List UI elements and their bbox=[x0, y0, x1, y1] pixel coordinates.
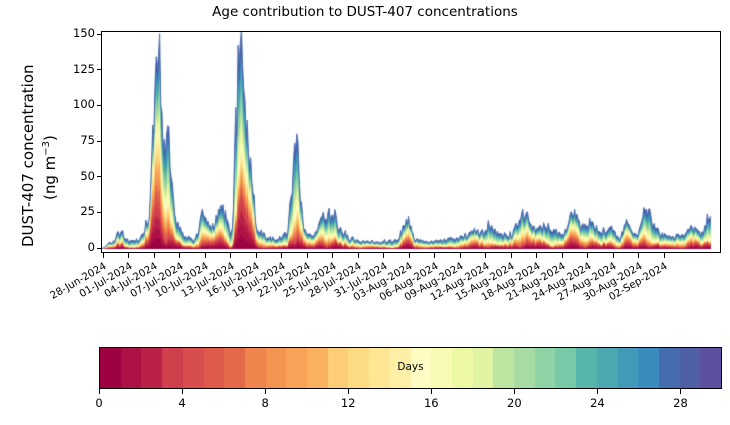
plot-area bbox=[101, 31, 721, 253]
x-tick-mark bbox=[383, 253, 384, 258]
y-tick-label: 50 bbox=[55, 169, 95, 183]
y-tick-label: 75 bbox=[55, 133, 95, 147]
colorbar-tick-label: 28 bbox=[660, 396, 700, 410]
x-tick-mark bbox=[281, 253, 282, 258]
x-tick-mark bbox=[256, 253, 257, 258]
y-tick-mark bbox=[97, 248, 102, 249]
x-tick-mark bbox=[103, 253, 104, 258]
y-axis-label-line1: DUST-407 concentration bbox=[19, 64, 37, 247]
y-tick-label: 150 bbox=[55, 26, 95, 40]
colorbar-tick-mark bbox=[680, 389, 681, 394]
colorbar-tick-label: 24 bbox=[577, 396, 617, 410]
y-tick-mark bbox=[97, 141, 102, 142]
y-tick-label: 125 bbox=[55, 62, 95, 76]
y-tick-mark bbox=[97, 212, 102, 213]
x-tick-mark bbox=[409, 253, 410, 258]
colorbar-tick-label: 12 bbox=[328, 396, 368, 410]
x-tick-mark bbox=[179, 253, 180, 258]
y-tick-label: 0 bbox=[55, 240, 95, 254]
x-tick-mark bbox=[664, 253, 665, 258]
colorbar-tick-label: 4 bbox=[162, 396, 202, 410]
x-tick-mark bbox=[536, 253, 537, 258]
colorbar-tick-label: 20 bbox=[494, 396, 534, 410]
y-tick-label: 25 bbox=[55, 204, 95, 218]
colorbar-tick-mark bbox=[431, 389, 432, 394]
colorbar-tick-mark bbox=[348, 389, 349, 394]
colorbar-tick-mark bbox=[514, 389, 515, 394]
x-tick-mark bbox=[613, 253, 614, 258]
x-tick-mark bbox=[562, 253, 563, 258]
x-tick-mark bbox=[230, 253, 231, 258]
colorbar-label: Days bbox=[99, 361, 722, 373]
x-tick-mark bbox=[485, 253, 486, 258]
x-tick-mark bbox=[358, 253, 359, 258]
colorbar-tick-label: 16 bbox=[411, 396, 451, 410]
x-tick-mark bbox=[511, 253, 512, 258]
y-tick-label: 100 bbox=[55, 97, 95, 111]
colorbar-tick-mark bbox=[265, 389, 266, 394]
x-tick-mark bbox=[587, 253, 588, 258]
figure-canvas: Age contribution to DUST-407 concentrati… bbox=[0, 0, 730, 425]
colorbar-tick-mark bbox=[182, 389, 183, 394]
x-tick-mark bbox=[460, 253, 461, 258]
colorbar-tick-mark bbox=[99, 389, 100, 394]
stacked-area-plot bbox=[102, 32, 720, 252]
x-tick-mark bbox=[128, 253, 129, 258]
colorbar-tick-label: 0 bbox=[79, 396, 119, 410]
x-tick-mark bbox=[638, 253, 639, 258]
colorbar-tick-mark bbox=[597, 389, 598, 394]
x-tick-mark bbox=[154, 253, 155, 258]
x-tick-mark bbox=[434, 253, 435, 258]
y-tick-mark bbox=[97, 34, 102, 35]
x-tick-mark bbox=[307, 253, 308, 258]
y-tick-mark bbox=[97, 176, 102, 177]
y-tick-mark bbox=[97, 105, 102, 106]
y-tick-mark bbox=[97, 69, 102, 70]
colorbar-tick-label: 8 bbox=[245, 396, 285, 410]
x-tick-mark bbox=[332, 253, 333, 258]
chart-title: Age contribution to DUST-407 concentrati… bbox=[0, 4, 730, 20]
x-tick-mark bbox=[205, 253, 206, 258]
